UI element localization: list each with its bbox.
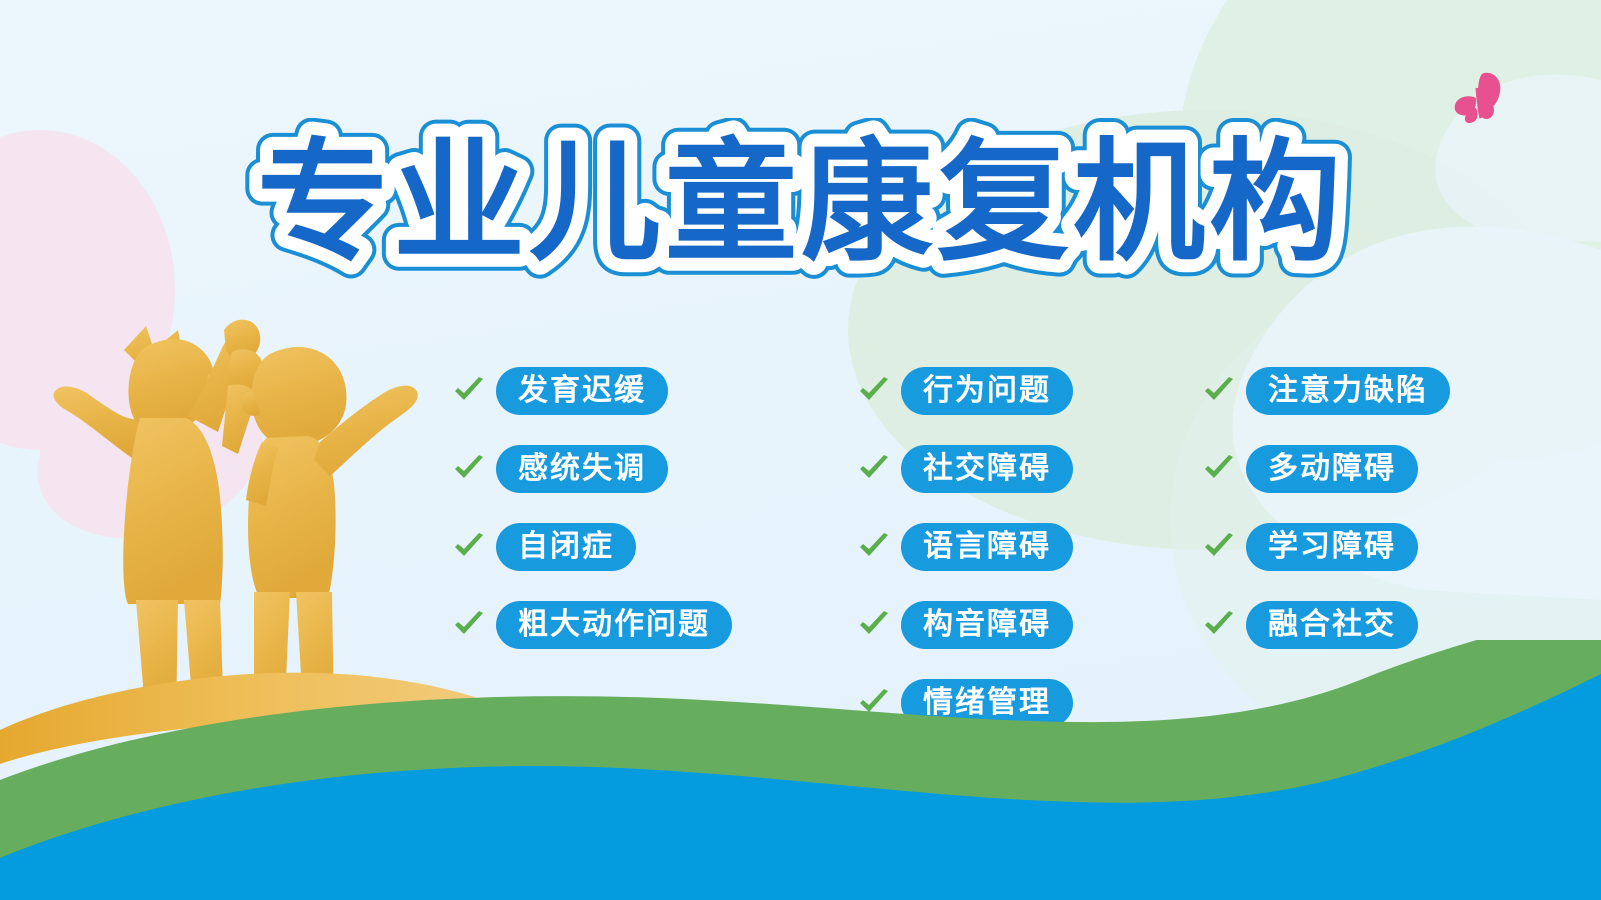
butterfly-icon — [1452, 68, 1508, 126]
service-pill[interactable]: 自闭症 — [496, 523, 636, 571]
list-item[interactable]: 语言障碍 — [857, 508, 1073, 586]
service-pill[interactable]: 学习障碍 — [1246, 523, 1418, 571]
list-item[interactable]: 社交障碍 — [857, 430, 1073, 508]
service-pill[interactable]: 注意力缺陷 — [1246, 367, 1450, 415]
list-item[interactable]: 行为问题 — [857, 352, 1073, 430]
service-column-3: 注意力缺陷 多动障碍 学习障碍 融合社交 — [1202, 352, 1450, 664]
list-item[interactable]: 注意力缺陷 — [1202, 352, 1450, 430]
service-pill[interactable]: 行为问题 — [901, 367, 1073, 415]
list-item[interactable]: 学习障碍 — [1202, 508, 1450, 586]
list-item[interactable]: 多动障碍 — [1202, 430, 1450, 508]
check-icon — [857, 454, 891, 484]
wave-decoration-group — [0, 640, 1601, 900]
service-pill[interactable]: 多动障碍 — [1246, 445, 1418, 493]
poster-canvas: 专业儿童康复机构 专业儿童康复机构 专业儿童康复机构 发育迟缓 感统失调 自闭症… — [0, 0, 1601, 900]
service-pill[interactable]: 语言障碍 — [901, 523, 1073, 571]
list-item[interactable]: 自闭症 — [452, 508, 732, 586]
service-pill[interactable]: 社交障碍 — [901, 445, 1073, 493]
check-icon — [857, 376, 891, 406]
check-icon — [857, 610, 891, 640]
check-icon — [1202, 532, 1236, 562]
check-icon — [452, 376, 486, 406]
check-icon — [452, 454, 486, 484]
list-item[interactable]: 发育迟缓 — [452, 352, 732, 430]
check-icon — [452, 532, 486, 562]
check-icon — [1202, 376, 1236, 406]
list-item[interactable]: 感统失调 — [452, 430, 732, 508]
service-pill[interactable]: 感统失调 — [496, 445, 668, 493]
service-column-1: 发育迟缓 感统失调 自闭症 粗大动作问题 — [452, 352, 732, 664]
check-icon — [1202, 454, 1236, 484]
service-pill[interactable]: 发育迟缓 — [496, 367, 668, 415]
check-icon — [1202, 610, 1236, 640]
check-icon — [452, 610, 486, 640]
check-icon — [857, 532, 891, 562]
